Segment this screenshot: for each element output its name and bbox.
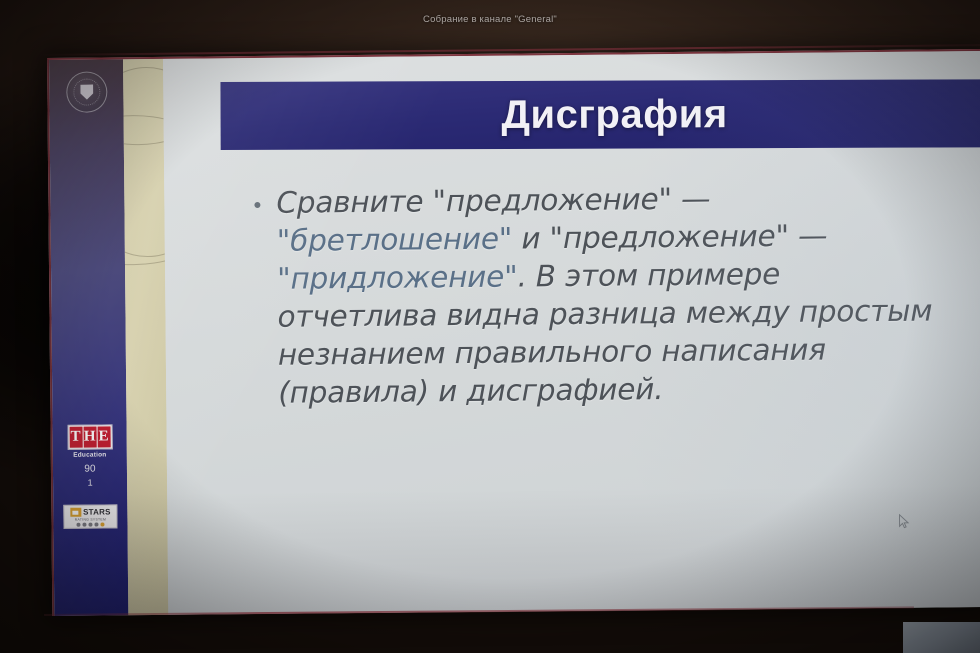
times-higher-education-logo: T H E (67, 424, 112, 449)
bullet-point-icon (254, 202, 260, 208)
background-screen-edge (903, 622, 980, 653)
slide-template-decorative-strip (123, 59, 168, 615)
ranking-subnumber: 1 (88, 478, 93, 488)
star-icon (82, 523, 86, 527)
slide-body: Сравните "предложение" — "бретлошение" и… (254, 177, 935, 412)
stars-badge-heading: STARS (70, 507, 111, 516)
slide-body-text: Сравните "предложение" — "бретлошение" и… (276, 177, 935, 412)
body-text-run: Сравните "предложение" — (276, 182, 710, 220)
mouse-pointer-icon (898, 514, 909, 530)
ranking-badges: T H E Education 90 1 STARS RATING SYSTEM (58, 424, 123, 529)
university-crest-icon (66, 71, 107, 112)
star-icon (100, 522, 104, 526)
slide-title-banner: Дисграфия (220, 79, 980, 150)
stars-mark-icon (70, 508, 81, 517)
slide-frame: T H E Education 90 1 STARS RATING SYSTEM (47, 49, 980, 616)
star-icon (88, 523, 92, 527)
highlighted-word: "придложение" (277, 260, 518, 296)
the-logo-letter-t: T (69, 427, 82, 448)
highlighted-word: "бретлошение" (277, 222, 513, 258)
body-text-run: и "предложение" — (512, 219, 827, 256)
stars-sublabel: RATING SYSTEM (75, 517, 106, 521)
the-education-label: Education (73, 451, 106, 458)
stars-rating-badge: STARS RATING SYSTEM (63, 504, 117, 529)
ranking-number: 90 (84, 464, 95, 475)
decorative-arc (123, 114, 168, 266)
crest-ring (73, 78, 100, 105)
slide-content-area: Дисграфия Сравните "предложение" — "брет… (163, 51, 980, 615)
stars-label: STARS (83, 507, 111, 516)
star-icon (94, 523, 98, 527)
meeting-title: Собрание в канале "General" (423, 14, 557, 25)
slide-template-left-rail: T H E Education 90 1 STARS RATING SYSTEM (49, 59, 128, 616)
shared-presentation-slide[interactable]: T H E Education 90 1 STARS RATING SYSTEM (47, 49, 980, 616)
stars-rating-dots (76, 522, 104, 526)
stars-mark-inner (73, 510, 79, 514)
crest-shield-icon (80, 85, 93, 100)
star-icon (76, 523, 80, 527)
the-logo-letter-e: E (97, 426, 110, 447)
slide-title: Дисграфия (501, 94, 727, 135)
meeting-title-bar: Собрание в канале "General" (0, 0, 980, 38)
the-logo-letter-h: H (83, 427, 96, 448)
